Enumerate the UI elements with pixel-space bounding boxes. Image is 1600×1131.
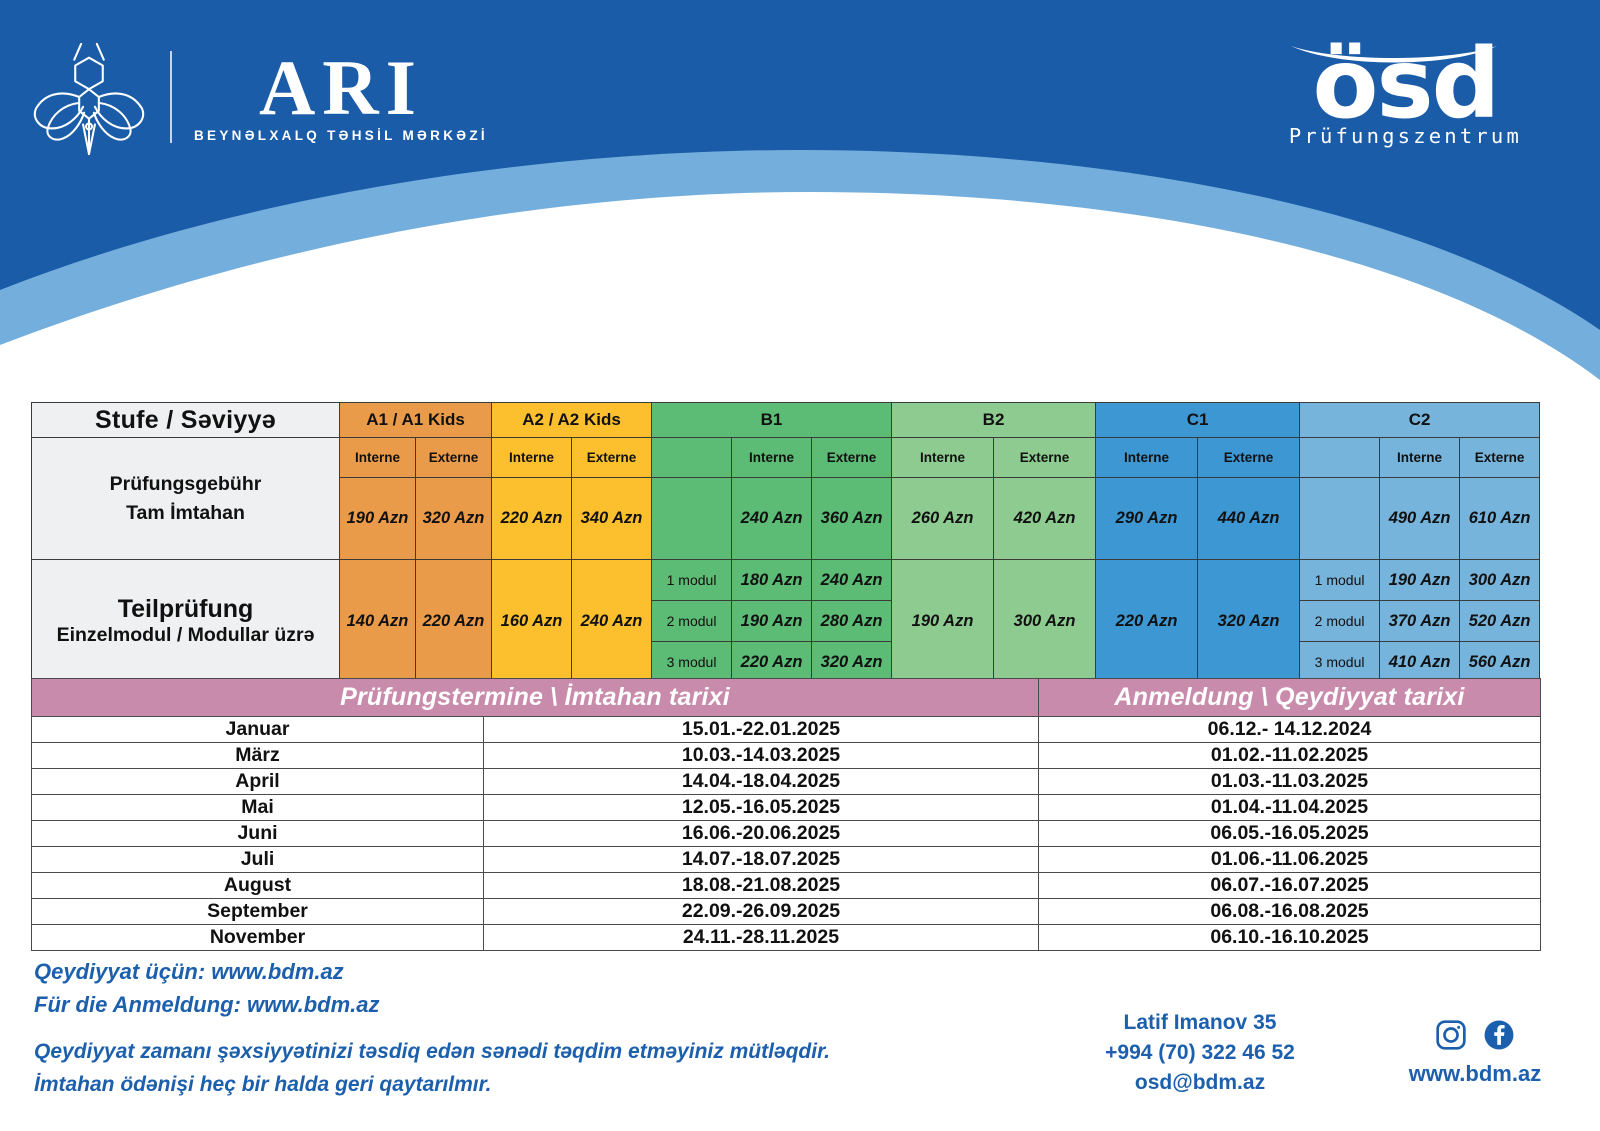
exam-date: 24.11.-28.11.2025 [484, 925, 1039, 951]
table-row: Januar 15.01.-22.01.2025 06.12.- 14.12.2… [32, 717, 1541, 743]
footer-note-identity: Qeydiyyat zamanı şəxsiyyətinizi təsdiq e… [34, 1035, 954, 1068]
price-c1-externe-partial: 320 Azn [1198, 560, 1300, 683]
table-row-partial-module1: Teilprüfung Einzelmodul / Modullar üzrə … [32, 560, 1540, 601]
table-row: Mai 12.05.-16.05.2025 01.04.-11.04.2025 [32, 795, 1541, 821]
dates-header-exam: Prüfungstermine \ İmtahan tarixi [32, 679, 1039, 717]
level-header-a2: A2 / A2 Kids [492, 403, 652, 438]
osd-swoosh-icon [1289, 44, 1499, 70]
price-c1-interne-partial: 220 Azn [1096, 560, 1198, 683]
dates-header-registration: Anmeldung \ Qeydiyyat tarixi [1039, 679, 1541, 717]
dates-header-row: Prüfungstermine \ İmtahan tarixi Anmeldu… [32, 679, 1541, 717]
exam-date: 14.07.-18.07.2025 [484, 847, 1039, 873]
price-table: Stufe / Səviyyə A1 / A1 Kids A2 / A2 Kid… [31, 402, 1540, 683]
registration-date: 01.06.-11.06.2025 [1039, 847, 1541, 873]
label-fee-line2: Tam İmtahan [32, 499, 339, 527]
table-row: März 10.03.-14.03.2025 01.02.-11.02.2025 [32, 743, 1541, 769]
subheader-b1-interne: Interne [732, 438, 812, 478]
subheader-c2-externe: Externe [1460, 438, 1540, 478]
label-partial-line1: Teilprüfung [32, 595, 339, 624]
ari-brand-text: ARI [259, 51, 423, 125]
price-b1-m3-interne: 220 Azn [732, 642, 812, 683]
level-header-b2: B2 [892, 403, 1096, 438]
contact-address: Latif Imanov 35 [1040, 1008, 1360, 1038]
exam-date: 14.04.-18.04.2025 [484, 769, 1039, 795]
subheader-b2-externe: Externe [994, 438, 1096, 478]
price-b1-externe-full: 360 Azn [812, 478, 892, 560]
month-label: Mai [32, 795, 484, 821]
registration-date: 01.02.-11.02.2025 [1039, 743, 1541, 769]
price-b1-m3-externe: 320 Azn [812, 642, 892, 683]
bee-icon [30, 38, 148, 156]
module-label-b1-m3: 3 modul [652, 642, 732, 683]
registration-url-az[interactable]: Qeydiyyat üçün: www.bdm.az [34, 955, 954, 988]
subheader-b1-module-spacer [652, 438, 732, 478]
price-a2-interne-full: 220 Azn [492, 478, 572, 560]
exam-date: 18.08.-21.08.2025 [484, 873, 1039, 899]
price-b1-interne-full: 240 Azn [732, 478, 812, 560]
level-header-a1: A1 / A1 Kids [340, 403, 492, 438]
module-label-c2-m2: 2 modul [1300, 601, 1380, 642]
price-a2-externe-partial: 240 Azn [572, 560, 652, 683]
price-c1-externe-full: 440 Azn [1198, 478, 1300, 560]
price-b1-m2-interne: 190 Azn [732, 601, 812, 642]
label-fee-line1: Prüfungsgebühr [32, 470, 339, 498]
registration-date: 06.08.-16.08.2025 [1039, 899, 1541, 925]
subheader-a1-interne: Interne [340, 438, 416, 478]
price-c2-interne-full: 490 Azn [1380, 478, 1460, 560]
subheader-b2-interne: Interne [892, 438, 994, 478]
month-label: August [32, 873, 484, 899]
price-b2-externe-full: 420 Azn [994, 478, 1096, 560]
registration-date: 01.03.-11.03.2025 [1039, 769, 1541, 795]
subheader-c1-interne: Interne [1096, 438, 1198, 478]
subheader-a2-externe: Externe [572, 438, 652, 478]
month-label: April [32, 769, 484, 795]
price-b2-externe-partial: 300 Azn [994, 560, 1096, 683]
registration-date: 01.04.-11.04.2025 [1039, 795, 1541, 821]
contact-email[interactable]: osd@bdm.az [1040, 1068, 1360, 1098]
price-c2-externe-full: 610 Azn [1460, 478, 1540, 560]
module-label-c2-m1: 1 modul [1300, 560, 1380, 601]
ari-tagline: BEYNƏLXALQ TƏHSİL MƏRKƏZİ [194, 128, 488, 143]
ari-logo: ARI BEYNƏLXALQ TƏHSİL MƏRKƏZİ [30, 38, 488, 156]
facebook-icon[interactable] [1482, 1018, 1516, 1057]
instagram-icon[interactable] [1434, 1018, 1468, 1057]
month-label: März [32, 743, 484, 769]
price-a2-interne-partial: 160 Azn [492, 560, 572, 683]
registration-url-de[interactable]: Für die Anmeldung: www.bdm.az [34, 988, 954, 1021]
label-partial-line2: Einzelmodul / Modullar üzrə [32, 624, 339, 647]
registration-date: 06.05.-16.05.2025 [1039, 821, 1541, 847]
exam-date: 10.03.-14.03.2025 [484, 743, 1039, 769]
contact-block: Latif Imanov 35 +994 (70) 322 46 52 osd@… [1040, 1008, 1360, 1098]
osd-logo: ösd Prüfungszentrum [1289, 44, 1522, 148]
price-b1-m2-externe: 280 Azn [812, 601, 892, 642]
website-url[interactable]: www.bdm.az [1380, 1061, 1570, 1087]
module-label-b1-m1: 1 modul [652, 560, 732, 601]
price-c2-m2-interne: 370 Azn [1380, 601, 1460, 642]
header-banner: ARI BEYNƏLXALQ TƏHSİL MƏRKƏZİ ösd Prüfun… [0, 0, 1600, 400]
subheader-a1-externe: Externe [416, 438, 492, 478]
price-c2-m2-externe: 520 Azn [1460, 601, 1540, 642]
level-header-b1: B1 [652, 403, 892, 438]
table-row: September 22.09.-26.09.2025 06.08.-16.08… [32, 899, 1541, 925]
table-row: November 24.11.-28.11.2025 06.10.-16.10.… [32, 925, 1541, 951]
logo-divider [170, 51, 172, 143]
level-header-c1: C1 [1096, 403, 1300, 438]
month-label: November [32, 925, 484, 951]
exam-date: 15.01.-22.01.2025 [484, 717, 1039, 743]
subheader-c2-module-spacer [1300, 438, 1380, 478]
registration-date: 06.12.- 14.12.2024 [1039, 717, 1541, 743]
footer-note-refund: İmtahan ödənişi heç bir halda geri qayta… [34, 1068, 954, 1101]
table-row-levels: Stufe / Səviyyə A1 / A1 Kids A2 / A2 Kid… [32, 403, 1540, 438]
month-label: September [32, 899, 484, 925]
month-label: Januar [32, 717, 484, 743]
table-row: Juni 16.06.-20.06.2025 06.05.-16.05.2025 [32, 821, 1541, 847]
row-label-teilpruefung: Teilprüfung Einzelmodul / Modullar üzrə [32, 560, 340, 683]
price-b1-m1-externe: 240 Azn [812, 560, 892, 601]
price-c2-module-spacer-full [1300, 478, 1380, 560]
price-c2-m3-interne: 410 Azn [1380, 642, 1460, 683]
table-row: Juli 14.07.-18.07.2025 01.06.-11.06.2025 [32, 847, 1541, 873]
table-row: April 14.04.-18.04.2025 01.03.-11.03.202… [32, 769, 1541, 795]
price-c1-interne-full: 290 Azn [1096, 478, 1198, 560]
price-b1-module-spacer-full [652, 478, 732, 560]
subheader-c1-externe: Externe [1198, 438, 1300, 478]
social-block: www.bdm.az [1380, 1018, 1570, 1087]
dates-table: Prüfungstermine \ İmtahan tarixi Anmeldu… [31, 678, 1541, 951]
month-label: Juni [32, 821, 484, 847]
price-a2-externe-full: 340 Azn [572, 478, 652, 560]
module-label-c2-m3: 3 modul [1300, 642, 1380, 683]
price-a1-interne-full: 190 Azn [340, 478, 416, 560]
price-b2-interne-full: 260 Azn [892, 478, 994, 560]
price-c2-m1-externe: 300 Azn [1460, 560, 1540, 601]
price-a1-externe-full: 320 Azn [416, 478, 492, 560]
exam-date: 12.05.-16.05.2025 [484, 795, 1039, 821]
subheader-b1-externe: Externe [812, 438, 892, 478]
price-b1-m1-interne: 180 Azn [732, 560, 812, 601]
level-header-c2: C2 [1300, 403, 1540, 438]
subheader-c2-interne: Interne [1380, 438, 1460, 478]
footer-notes: Qeydiyyat üçün: www.bdm.az Für die Anmel… [34, 955, 954, 1101]
row-label-stufe: Stufe / Səviyyə [32, 403, 340, 438]
table-row-subheaders: Prüfungsgebühr Tam İmtahan Interne Exter… [32, 438, 1540, 478]
module-label-b1-m2: 2 modul [652, 601, 732, 642]
subheader-a2-interne: Interne [492, 438, 572, 478]
price-a1-interne-partial: 140 Azn [340, 560, 416, 683]
row-label-pruefungsgebuehr: Prüfungsgebühr Tam İmtahan [32, 438, 340, 560]
exam-date: 22.09.-26.09.2025 [484, 899, 1039, 925]
contact-phone[interactable]: +994 (70) 322 46 52 [1040, 1038, 1360, 1068]
registration-date: 06.10.-16.10.2025 [1039, 925, 1541, 951]
exam-date: 16.06.-20.06.2025 [484, 821, 1039, 847]
price-c2-m1-interne: 190 Azn [1380, 560, 1460, 601]
price-b2-interne-partial: 190 Azn [892, 560, 994, 683]
osd-tagline: Prüfungszentrum [1289, 124, 1522, 148]
price-c2-m3-externe: 560 Azn [1460, 642, 1540, 683]
registration-date: 06.07.-16.07.2025 [1039, 873, 1541, 899]
month-label: Juli [32, 847, 484, 873]
table-row: August 18.08.-21.08.2025 06.07.-16.07.20… [32, 873, 1541, 899]
price-a1-externe-partial: 220 Azn [416, 560, 492, 683]
